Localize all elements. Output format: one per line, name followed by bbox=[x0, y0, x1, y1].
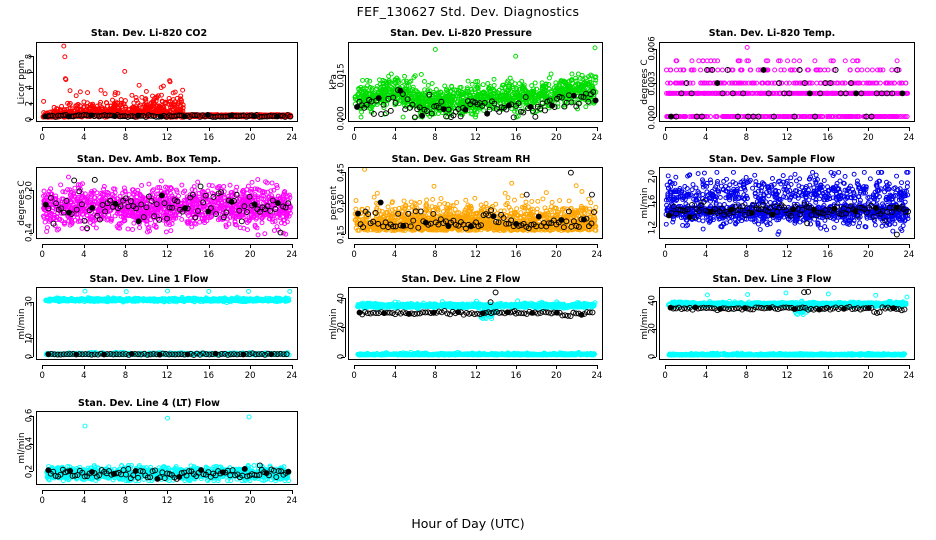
x-tick-sample-flow-1 bbox=[706, 244, 707, 248]
y-axis-label-li820-pressure: kPa bbox=[328, 39, 340, 125]
x-tick-label-line1-flow-4: 16 bbox=[195, 371, 223, 381]
x-tick-line2-flow-6 bbox=[597, 365, 598, 369]
x-tick-label-sample-flow-2: 8 bbox=[732, 250, 760, 260]
x-tick-label-line1-flow-3: 12 bbox=[153, 371, 181, 381]
x-tick-line2-flow-4 bbox=[516, 365, 517, 369]
x-tick-amb-box-temp-2 bbox=[125, 244, 126, 248]
x-tick-gas-stream-rh-6 bbox=[597, 244, 598, 248]
x-tick-label-line3-flow-4: 16 bbox=[814, 371, 842, 381]
plot-area-line2-flow[interactable] bbox=[348, 287, 603, 360]
x-tick-label-line2-flow-0: 0 bbox=[340, 371, 368, 381]
y-axis-label-gas-stream-rh: percent bbox=[328, 160, 340, 246]
x-tick-label-gas-stream-rh-0: 0 bbox=[340, 250, 368, 260]
scatter-points-li820-temp bbox=[660, 43, 914, 121]
panel-title-line2-flow: Stan. Dev. Line 2 Flow bbox=[312, 274, 610, 285]
x-tick-label-sample-flow-6: 24 bbox=[895, 250, 923, 260]
x-tick-label-gas-stream-rh-6: 24 bbox=[583, 250, 611, 260]
plot-area-line4-lt-flow[interactable] bbox=[36, 411, 298, 485]
x-tick-line4-lt-flow-2 bbox=[125, 490, 126, 494]
x-tick-gas-stream-rh-5 bbox=[556, 244, 557, 248]
x-tick-label-li820-co2-0: 0 bbox=[28, 133, 56, 143]
x-tick-line4-lt-flow-3 bbox=[167, 490, 168, 494]
x-tick-line3-flow-0 bbox=[665, 365, 666, 369]
x-tick-label-line4-lt-flow-6: 24 bbox=[278, 496, 306, 506]
x-tick-gas-stream-rh-3 bbox=[476, 244, 477, 248]
figure-x-axis-label: Hour of Day (UTC) bbox=[0, 516, 936, 531]
x-tick-gas-stream-rh-1 bbox=[395, 244, 396, 248]
x-tick-label-li820-pressure-3: 12 bbox=[462, 133, 490, 143]
x-tick-label-line3-flow-6: 24 bbox=[895, 371, 923, 381]
x-tick-label-line3-flow-0: 0 bbox=[651, 371, 679, 381]
x-tick-label-li820-temp-0: 0 bbox=[651, 133, 679, 143]
x-tick-line1-flow-3 bbox=[167, 365, 168, 369]
x-tick-gas-stream-rh-0 bbox=[354, 244, 355, 248]
x-tick-label-li820-co2-2: 8 bbox=[111, 133, 139, 143]
x-tick-li820-temp-4 bbox=[828, 127, 829, 131]
scatter-points-li820-pressure bbox=[349, 43, 602, 121]
x-tick-label-line2-flow-4: 16 bbox=[502, 371, 530, 381]
y-axis-label-line1-flow: ml/min bbox=[16, 281, 28, 367]
x-tick-li820-co2-1 bbox=[84, 127, 85, 131]
x-tick-label-sample-flow-0: 0 bbox=[651, 250, 679, 260]
x-tick-label-sample-flow-4: 16 bbox=[814, 250, 842, 260]
x-tick-label-gas-stream-rh-3: 12 bbox=[462, 250, 490, 260]
y-axis-label-sample-flow: ml/min bbox=[639, 160, 651, 246]
x-tick-label-li820-temp-6: 24 bbox=[895, 133, 923, 143]
x-tick-line1-flow-4 bbox=[209, 365, 210, 369]
x-tick-label-li820-temp-2: 8 bbox=[732, 133, 760, 143]
plot-area-sample-flow[interactable] bbox=[659, 167, 915, 239]
x-tick-label-line2-flow-3: 12 bbox=[462, 371, 490, 381]
x-tick-label-line1-flow-6: 24 bbox=[278, 371, 306, 381]
x-tick-label-li820-co2-5: 20 bbox=[236, 133, 264, 143]
plot-area-line3-flow[interactable] bbox=[659, 287, 915, 360]
x-tick-label-line2-flow-1: 4 bbox=[381, 371, 409, 381]
x-tick-label-line1-flow-0: 0 bbox=[28, 371, 56, 381]
y-axis-label-li820-co2: Licor ppm bbox=[16, 39, 28, 125]
x-tick-label-amb-box-temp-6: 24 bbox=[278, 250, 306, 260]
x-tick-li820-temp-5 bbox=[868, 127, 869, 131]
scatter-points-gas-stream-rh bbox=[349, 168, 602, 238]
x-tick-label-amb-box-temp-0: 0 bbox=[28, 250, 56, 260]
x-tick-sample-flow-3 bbox=[787, 244, 788, 248]
x-tick-label-sample-flow-5: 20 bbox=[854, 250, 882, 260]
x-tick-label-line4-lt-flow-5: 20 bbox=[236, 496, 264, 506]
x-tick-label-sample-flow-1: 4 bbox=[692, 250, 720, 260]
x-tick-line1-flow-0 bbox=[42, 365, 43, 369]
panel-title-gas-stream-rh: Stan. Dev. Gas Stream RH bbox=[312, 154, 610, 165]
x-tick-label-li820-co2-4: 16 bbox=[195, 133, 223, 143]
panel-title-amb-box-temp: Stan. Dev. Amb. Box Temp. bbox=[0, 154, 298, 165]
panel-title-li820-temp: Stan. Dev. Li-820 Temp. bbox=[623, 28, 921, 39]
x-tick-label-line2-flow-2: 8 bbox=[421, 371, 449, 381]
scatter-points-sample-flow bbox=[660, 168, 914, 238]
x-tick-label-li820-pressure-5: 20 bbox=[542, 133, 570, 143]
x-tick-label-line3-flow-5: 20 bbox=[854, 371, 882, 381]
x-tick-line3-flow-2 bbox=[746, 365, 747, 369]
x-tick-label-line4-lt-flow-1: 4 bbox=[70, 496, 98, 506]
x-tick-li820-co2-2 bbox=[125, 127, 126, 131]
x-tick-li820-temp-3 bbox=[787, 127, 788, 131]
x-tick-label-li820-pressure-6: 24 bbox=[583, 133, 611, 143]
x-tick-label-gas-stream-rh-4: 16 bbox=[502, 250, 530, 260]
x-tick-li820-temp-6 bbox=[909, 127, 910, 131]
x-tick-label-gas-stream-rh-2: 8 bbox=[421, 250, 449, 260]
x-tick-line4-lt-flow-1 bbox=[84, 490, 85, 494]
x-axis-line-line2-flow bbox=[354, 365, 597, 366]
x-tick-label-amb-box-temp-3: 12 bbox=[153, 250, 181, 260]
x-tick-label-amb-box-temp-1: 4 bbox=[70, 250, 98, 260]
plot-area-gas-stream-rh[interactable] bbox=[348, 167, 603, 239]
x-tick-li820-pressure-6 bbox=[597, 127, 598, 131]
x-tick-li820-co2-5 bbox=[250, 127, 251, 131]
x-axis-line-line3-flow bbox=[665, 365, 909, 366]
panel-title-line1-flow: Stan. Dev. Line 1 Flow bbox=[0, 274, 298, 285]
x-tick-li820-co2-0 bbox=[42, 127, 43, 131]
x-tick-label-line1-flow-1: 4 bbox=[70, 371, 98, 381]
plot-area-amb-box-temp[interactable] bbox=[36, 167, 298, 239]
x-tick-label-gas-stream-rh-5: 20 bbox=[542, 250, 570, 260]
x-tick-amb-box-temp-4 bbox=[209, 244, 210, 248]
x-tick-li820-pressure-3 bbox=[476, 127, 477, 131]
x-tick-label-sample-flow-3: 12 bbox=[773, 250, 801, 260]
x-tick-li820-pressure-5 bbox=[556, 127, 557, 131]
panel-title-line4-lt-flow: Stan. Dev. Line 4 (LT) Flow bbox=[0, 398, 298, 409]
plot-area-li820-temp[interactable] bbox=[659, 42, 915, 122]
x-tick-sample-flow-2 bbox=[746, 244, 747, 248]
scatter-points-line1-flow bbox=[37, 288, 297, 359]
x-tick-line3-flow-5 bbox=[868, 365, 869, 369]
scatter-points-line3-flow bbox=[660, 288, 914, 359]
x-axis-line-sample-flow bbox=[665, 244, 909, 245]
x-tick-label-li820-co2-1: 4 bbox=[70, 133, 98, 143]
x-tick-line1-flow-5 bbox=[250, 365, 251, 369]
x-tick-label-li820-pressure-2: 8 bbox=[421, 133, 449, 143]
x-tick-label-li820-pressure-1: 4 bbox=[381, 133, 409, 143]
x-tick-line3-flow-6 bbox=[909, 365, 910, 369]
x-tick-label-li820-temp-5: 20 bbox=[854, 133, 882, 143]
x-tick-label-li820-temp-4: 16 bbox=[814, 133, 842, 143]
panel-title-li820-co2: Stan. Dev. Li-820 CO2 bbox=[0, 28, 298, 39]
x-tick-label-line4-lt-flow-2: 8 bbox=[111, 496, 139, 506]
x-axis-line-line1-flow bbox=[42, 365, 292, 366]
x-tick-gas-stream-rh-2 bbox=[435, 244, 436, 248]
x-tick-line3-flow-1 bbox=[706, 365, 707, 369]
x-tick-sample-flow-4 bbox=[828, 244, 829, 248]
x-axis-line-amb-box-temp bbox=[42, 244, 292, 245]
y-axis-label-line4-lt-flow: ml/min bbox=[16, 405, 28, 491]
x-tick-line3-flow-4 bbox=[828, 365, 829, 369]
x-tick-label-line3-flow-2: 8 bbox=[732, 371, 760, 381]
x-tick-line1-flow-2 bbox=[125, 365, 126, 369]
x-tick-label-amb-box-temp-4: 16 bbox=[195, 250, 223, 260]
x-tick-li820-pressure-4 bbox=[516, 127, 517, 131]
scatter-points-line2-flow bbox=[349, 288, 602, 359]
x-tick-amb-box-temp-1 bbox=[84, 244, 85, 248]
y-axis-label-line2-flow: ml/min bbox=[328, 281, 340, 367]
x-tick-label-li820-co2-6: 24 bbox=[278, 133, 306, 143]
x-tick-line4-lt-flow-5 bbox=[250, 490, 251, 494]
x-tick-label-amb-box-temp-2: 8 bbox=[111, 250, 139, 260]
y-axis-label-li820-temp: degrees C bbox=[639, 39, 651, 125]
x-tick-li820-pressure-0 bbox=[354, 127, 355, 131]
x-tick-label-line3-flow-1: 4 bbox=[692, 371, 720, 381]
x-tick-label-gas-stream-rh-1: 4 bbox=[381, 250, 409, 260]
x-tick-line1-flow-1 bbox=[84, 365, 85, 369]
x-tick-label-li820-co2-3: 12 bbox=[153, 133, 181, 143]
plot-area-line1-flow[interactable] bbox=[36, 287, 298, 360]
plot-area-li820-co2[interactable] bbox=[36, 42, 298, 122]
y-axis-label-amb-box-temp: degrees C bbox=[16, 160, 28, 246]
scatter-points-line4-lt-flow bbox=[37, 412, 297, 484]
x-tick-label-line4-lt-flow-0: 0 bbox=[28, 496, 56, 506]
x-axis-line-li820-pressure bbox=[354, 127, 597, 128]
scatter-points-amb-box-temp bbox=[37, 168, 297, 238]
x-tick-sample-flow-5 bbox=[868, 244, 869, 248]
x-axis-line-li820-temp bbox=[665, 127, 909, 128]
x-tick-li820-co2-6 bbox=[292, 127, 293, 131]
x-tick-li820-pressure-2 bbox=[435, 127, 436, 131]
x-tick-line2-flow-1 bbox=[395, 365, 396, 369]
x-tick-li820-temp-1 bbox=[706, 127, 707, 131]
x-tick-label-li820-pressure-0: 0 bbox=[340, 133, 368, 143]
x-tick-line4-lt-flow-0 bbox=[42, 490, 43, 494]
x-tick-gas-stream-rh-4 bbox=[516, 244, 517, 248]
x-axis-line-line4-lt-flow bbox=[42, 490, 292, 491]
x-tick-amb-box-temp-5 bbox=[250, 244, 251, 248]
x-tick-sample-flow-0 bbox=[665, 244, 666, 248]
x-tick-line4-lt-flow-6 bbox=[292, 490, 293, 494]
scatter-points-li820-co2 bbox=[37, 43, 297, 121]
x-tick-li820-pressure-1 bbox=[395, 127, 396, 131]
plot-area-li820-pressure[interactable] bbox=[348, 42, 603, 122]
x-tick-line3-flow-3 bbox=[787, 365, 788, 369]
x-axis-line-li820-co2 bbox=[42, 127, 292, 128]
x-tick-line4-lt-flow-4 bbox=[209, 490, 210, 494]
x-tick-label-line4-lt-flow-3: 12 bbox=[153, 496, 181, 506]
x-tick-li820-co2-4 bbox=[209, 127, 210, 131]
x-tick-label-li820-pressure-4: 16 bbox=[502, 133, 530, 143]
x-tick-li820-temp-2 bbox=[746, 127, 747, 131]
x-tick-line2-flow-0 bbox=[354, 365, 355, 369]
x-tick-label-li820-temp-1: 4 bbox=[692, 133, 720, 143]
x-tick-label-line2-flow-5: 20 bbox=[542, 371, 570, 381]
x-tick-li820-temp-0 bbox=[665, 127, 666, 131]
x-axis-line-gas-stream-rh bbox=[354, 244, 597, 245]
x-tick-line2-flow-5 bbox=[556, 365, 557, 369]
x-tick-amb-box-temp-3 bbox=[167, 244, 168, 248]
panel-title-line3-flow: Stan. Dev. Line 3 Flow bbox=[623, 274, 921, 285]
x-tick-line2-flow-3 bbox=[476, 365, 477, 369]
x-tick-label-line2-flow-6: 24 bbox=[583, 371, 611, 381]
x-tick-li820-co2-3 bbox=[167, 127, 168, 131]
x-tick-sample-flow-6 bbox=[909, 244, 910, 248]
x-tick-label-line1-flow-5: 20 bbox=[236, 371, 264, 381]
x-tick-amb-box-temp-0 bbox=[42, 244, 43, 248]
y-axis-label-line3-flow: ml/min bbox=[639, 281, 651, 367]
x-tick-amb-box-temp-6 bbox=[292, 244, 293, 248]
panel-title-sample-flow: Stan. Dev. Sample Flow bbox=[623, 154, 921, 165]
figure-main-title: FEF_130627 Std. Dev. Diagnostics bbox=[0, 4, 936, 19]
x-tick-line2-flow-2 bbox=[435, 365, 436, 369]
x-tick-label-line3-flow-3: 12 bbox=[773, 371, 801, 381]
x-tick-label-li820-temp-3: 12 bbox=[773, 133, 801, 143]
x-tick-label-line1-flow-2: 8 bbox=[111, 371, 139, 381]
x-tick-line1-flow-6 bbox=[292, 365, 293, 369]
panel-title-li820-pressure: Stan. Dev. Li-820 Pressure bbox=[312, 28, 610, 39]
x-tick-label-amb-box-temp-5: 20 bbox=[236, 250, 264, 260]
x-tick-label-line4-lt-flow-4: 16 bbox=[195, 496, 223, 506]
